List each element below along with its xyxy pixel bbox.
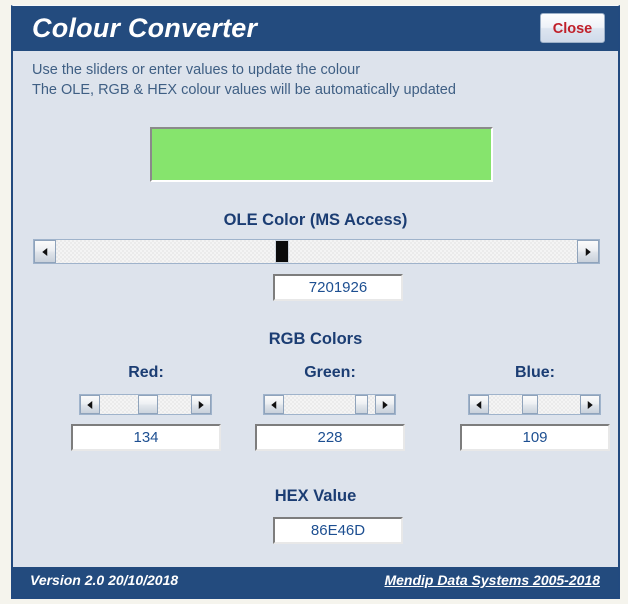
page-title: Colour Converter — [32, 13, 257, 44]
red-slider-left-arrow-icon[interactable] — [80, 395, 100, 414]
rgb-heading: RGB Colors — [13, 330, 618, 349]
green-slider-thumb[interactable] — [355, 395, 368, 414]
ole-slider-left-arrow-icon[interactable] — [34, 240, 56, 263]
hex-value-input[interactable]: 86E46D — [273, 517, 403, 544]
green-value-input[interactable]: 228 — [255, 424, 405, 451]
triangle-left-icon — [271, 401, 276, 409]
instructions-line-1: Use the sliders or enter values to updat… — [32, 60, 456, 80]
green-slider-left-arrow-icon[interactable] — [264, 395, 284, 414]
title-bar: Colour Converter Close — [13, 6, 618, 51]
ole-slider-thumb[interactable] — [275, 240, 289, 263]
instructions-text: Use the sliders or enter values to updat… — [32, 60, 456, 100]
green-slider-right-arrow-icon[interactable] — [375, 395, 395, 414]
ole-heading: OLE Color (MS Access) — [13, 211, 618, 230]
triangle-right-icon — [586, 248, 591, 256]
blue-slider-left-arrow-icon[interactable] — [469, 395, 489, 414]
close-button[interactable]: Close — [540, 13, 605, 43]
colour-preview-swatch — [152, 129, 491, 180]
blue-slider-right-arrow-icon[interactable] — [580, 395, 600, 414]
footer-credit-link[interactable]: Mendip Data Systems 2005-2018 — [384, 572, 600, 588]
footer-bar: Version 2.0 20/10/2018 Mendip Data Syste… — [13, 567, 618, 597]
green-label: Green: — [255, 364, 405, 382]
instructions-line-2: The OLE, RGB & HEX colour values will be… — [32, 80, 456, 100]
triangle-left-icon — [476, 401, 481, 409]
ole-slider-right-arrow-icon[interactable] — [577, 240, 599, 263]
red-slider[interactable] — [79, 394, 212, 415]
triangle-right-icon — [588, 401, 593, 409]
triangle-right-icon — [199, 401, 204, 409]
hex-heading: HEX Value — [13, 487, 618, 506]
footer-version-text: Version 2.0 20/10/2018 — [30, 572, 178, 588]
triangle-left-icon — [42, 248, 47, 256]
red-slider-right-arrow-icon[interactable] — [191, 395, 211, 414]
ole-value-input[interactable]: 7201926 — [273, 274, 403, 301]
colour-preview-frame — [150, 127, 493, 182]
colour-converter-window: Colour Converter Close Use the sliders o… — [11, 5, 620, 599]
triangle-left-icon — [87, 401, 92, 409]
red-label: Red: — [71, 364, 221, 382]
red-value-input[interactable]: 134 — [71, 424, 221, 451]
blue-slider[interactable] — [468, 394, 601, 415]
blue-label: Blue: — [460, 364, 610, 382]
green-slider[interactable] — [263, 394, 396, 415]
red-slider-thumb[interactable] — [138, 395, 158, 414]
blue-slider-thumb[interactable] — [522, 395, 538, 414]
blue-value-input[interactable]: 109 — [460, 424, 610, 451]
ole-slider[interactable] — [33, 239, 600, 264]
triangle-right-icon — [383, 401, 388, 409]
